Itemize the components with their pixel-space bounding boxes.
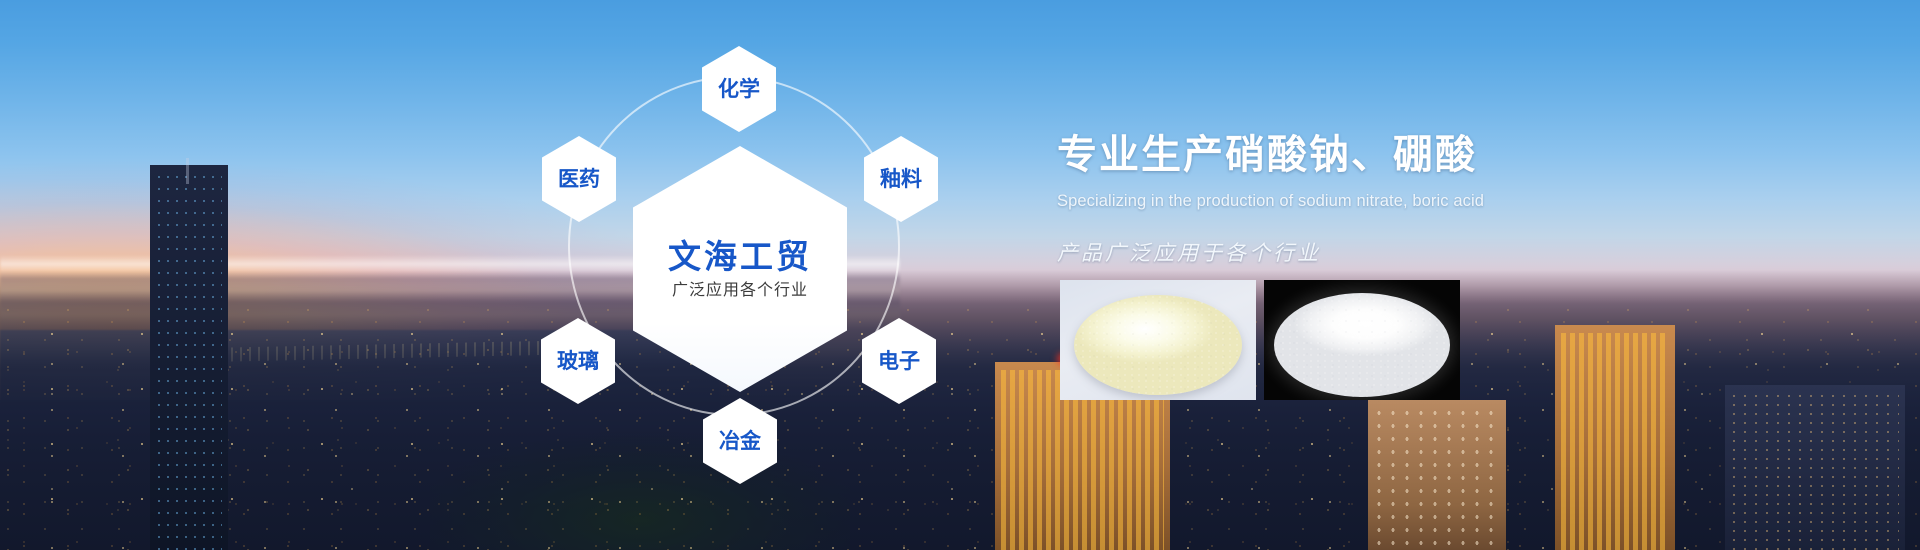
powder-grain-texture xyxy=(1074,295,1242,395)
hexagon-label-medicine: 医药 xyxy=(558,169,600,190)
headline-text: 专业生产硝酸钠、硼酸 xyxy=(1057,122,1677,180)
skyscraper-antenna xyxy=(186,158,189,184)
foreground-building-far-right xyxy=(1725,385,1905,550)
hexagon-label-glaze: 釉料 xyxy=(880,169,922,190)
white-powder-pile xyxy=(1274,293,1450,397)
hexagon-label-chemical: 化学 xyxy=(718,79,760,100)
boric-acid-photo[interactable] xyxy=(1264,280,1460,400)
hexagon-label-metallurgy: 冶金 xyxy=(719,431,761,452)
skyscraper-windows xyxy=(156,173,222,550)
hexagon-label-electronic: 电子 xyxy=(878,351,920,372)
brand-name: 文海工贸 xyxy=(668,240,812,273)
building-window-grid xyxy=(1374,408,1500,550)
sodium-nitrate-photo[interactable] xyxy=(1060,280,1256,400)
foreground-building-right xyxy=(1555,325,1675,550)
tagline-text: 产品广泛应用于各个行业 xyxy=(1057,237,1677,267)
promotional-banner: 文海工贸 广泛应用各个行业 化学 釉料 电子 冶金 玻璃 医药 专业生产硝酸钠、… xyxy=(0,0,1920,550)
building-window-far-right xyxy=(1731,393,1899,550)
building-window-lights-right xyxy=(1561,333,1669,550)
hexagon-label-glass: 玻璃 xyxy=(557,351,599,372)
foreground-building-mid xyxy=(1368,400,1506,550)
pale-powder-pile xyxy=(1074,295,1242,395)
subheadline-text: Specializing in the production of sodium… xyxy=(1057,192,1677,211)
industry-hexagon-graphic: 文海工贸 广泛应用各个行业 化学 釉料 电子 冶金 玻璃 医药 xyxy=(530,28,950,498)
left-skyscraper xyxy=(150,165,228,550)
product-photo-strip xyxy=(1060,280,1460,400)
brand-tagline: 广泛应用各个行业 xyxy=(672,283,808,299)
marketing-copy-block: 专业生产硝酸钠、硼酸 Specializing in the productio… xyxy=(1057,122,1677,267)
powder-grain-texture-white xyxy=(1274,293,1450,397)
